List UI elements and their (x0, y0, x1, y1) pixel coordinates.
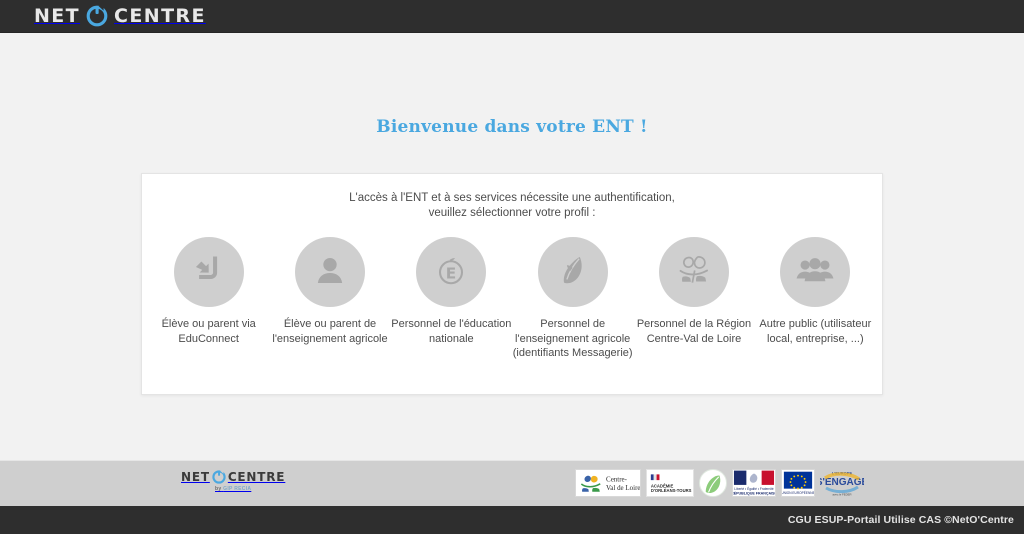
partner-logo-leaf-green[interactable] (699, 469, 727, 497)
profile-label-line: local, entreprise, ...) (767, 333, 864, 345)
page-title: Bienvenue dans votre ENT ! (0, 33, 1024, 137)
profile-label-line: Personnel de (540, 318, 605, 330)
bottom-bar: CGU ESUP-Portail Utilise CAS ©NetO'Centr… (0, 506, 1024, 534)
svg-text:UNION EUROPÉENNE: UNION EUROPÉENNE (782, 490, 814, 495)
profile-list: Élève ou parent via EduConnect Élève ou … (142, 237, 882, 361)
profile-label-line: l'enseignement agricole (272, 333, 387, 345)
header-logo[interactable]: NET CENTRE (34, 5, 206, 27)
e-accent-circle-icon: E (433, 252, 469, 293)
footer-bar: NET CENTRE by GIP RECIA (0, 460, 1024, 506)
profile-label-line: nationale (429, 333, 474, 345)
profile-label-line: EduConnect (178, 333, 239, 345)
profile-label: Élève ou parent de l'enseignement agrico… (272, 317, 387, 346)
svg-text:Centre-: Centre- (606, 476, 628, 484)
partner-logo-academie-orleans-tours[interactable]: ACADÉMIE D'ORLÉANS-TOURS (646, 469, 694, 497)
power-circle-icon (86, 5, 108, 27)
profile-label: Personnel de l'enseignement agricole (id… (513, 317, 633, 361)
instructions: L'accès à l'ENT et à ses services nécess… (142, 174, 882, 221)
footer-byline-name: GIP RECIA (223, 486, 251, 492)
profile-option-eleve-parent-agricole[interactable]: Élève ou parent de l'enseignement agrico… (269, 237, 390, 346)
profile-label-line: (identifiants Messagerie) (513, 347, 633, 359)
profile-badge: E (416, 237, 486, 307)
svg-text:RÉPUBLIQUE FRANÇAISE: RÉPUBLIQUE FRANÇAISE (733, 490, 775, 495)
footer-logo-text-net: NET (181, 471, 210, 483)
person-icon (312, 252, 348, 293)
instructions-line-1: L'accès à l'ENT et à ses services nécess… (349, 192, 675, 204)
footer-byline-by: by (215, 486, 221, 492)
footer-logo[interactable]: NET CENTRE by GIP RECIA (181, 470, 285, 492)
svg-text:Liberté • Égalité • Fraternité: Liberté • Égalité • Fraternité (734, 486, 774, 491)
legal-text: CGU ESUP-Portail Utilise CAS ©NetO'Centr… (788, 514, 1014, 526)
svg-text:D'ORLÉANS-TOURS: D'ORLÉANS-TOURS (651, 488, 692, 493)
profile-badge (538, 237, 608, 307)
profile-option-educonnect[interactable]: Élève ou parent via EduConnect (148, 237, 269, 346)
header-bar: NET CENTRE (0, 0, 1024, 33)
profile-label-line: Élève ou parent de (284, 318, 376, 330)
profile-badge (295, 237, 365, 307)
partner-logo-list: Centre- Val de Loire ACADÉMIE D'ORLÉANS-… (575, 468, 864, 498)
profile-label-line: Autre public (utilisateur (759, 318, 871, 330)
profile-label-line: Personnel de la Région (637, 318, 751, 330)
arrow-into-corner-icon (191, 252, 227, 293)
profile-badge (659, 237, 729, 307)
leaf-icon (555, 252, 591, 293)
profile-label: Personnel de l'éducation nationale (391, 317, 511, 346)
profile-badge (780, 237, 850, 307)
profile-label-line: Élève ou parent via (162, 318, 256, 330)
profile-label: Personnel de la Région Centre-Val de Loi… (637, 317, 751, 346)
profile-selection-card: L'accès à l'ENT et à ses services nécess… (141, 173, 883, 395)
profile-label-line: l'enseignement agricole (515, 333, 630, 345)
footer-byline: by GIP RECIA (215, 486, 251, 492)
partner-logo-leurope-sengage[interactable]: L'EUROPE S'ENGAGE avec le FEDER (820, 468, 864, 498)
partner-logo-centre-val-de-loire[interactable]: Centre- Val de Loire (575, 469, 641, 497)
partner-logo-european-union[interactable]: UNION EUROPÉENNE (781, 469, 815, 497)
profile-label: Autre public (utilisateur local, entrepr… (759, 317, 871, 346)
region-centre-val-de-loire-icon (674, 252, 714, 293)
main-content: Bienvenue dans votre ENT ! L'accès à l'E… (0, 33, 1024, 460)
profile-option-education-nationale[interactable]: E Personnel de l'éducation nationale (391, 237, 512, 346)
svg-text:avec le FEDER: avec le FEDER (832, 493, 851, 497)
power-circle-icon (212, 470, 226, 484)
instructions-line-2: veuillez sélectionner votre profil : (429, 207, 596, 219)
profile-badge (174, 237, 244, 307)
partner-logo-republique-francaise[interactable]: Liberté • Égalité • Fraternité RÉPUBLIQU… (732, 469, 776, 497)
header-logo-text-net: NET (34, 7, 80, 26)
footer-logo-row: NET CENTRE (181, 470, 285, 484)
profile-label: Élève ou parent via EduConnect (162, 317, 256, 346)
profile-label-line: Centre-Val de Loire (647, 333, 742, 345)
profile-label-line: Personnel de l'éducation (391, 318, 511, 330)
profile-option-enseignement-agricole-messagerie[interactable]: Personnel de l'enseignement agricole (id… (512, 237, 633, 361)
svg-text:E: E (446, 264, 456, 282)
svg-text:Val de Loire: Val de Loire (606, 484, 640, 492)
profile-option-autre-public[interactable]: Autre public (utilisateur local, entrepr… (755, 237, 876, 346)
profile-option-region-centre-val-de-loire[interactable]: Personnel de la Région Centre-Val de Loi… (633, 237, 754, 346)
group-of-people-icon (795, 252, 835, 293)
footer-logo-text-centre: CENTRE (228, 471, 285, 483)
header-logo-text-centre: CENTRE (114, 7, 206, 26)
